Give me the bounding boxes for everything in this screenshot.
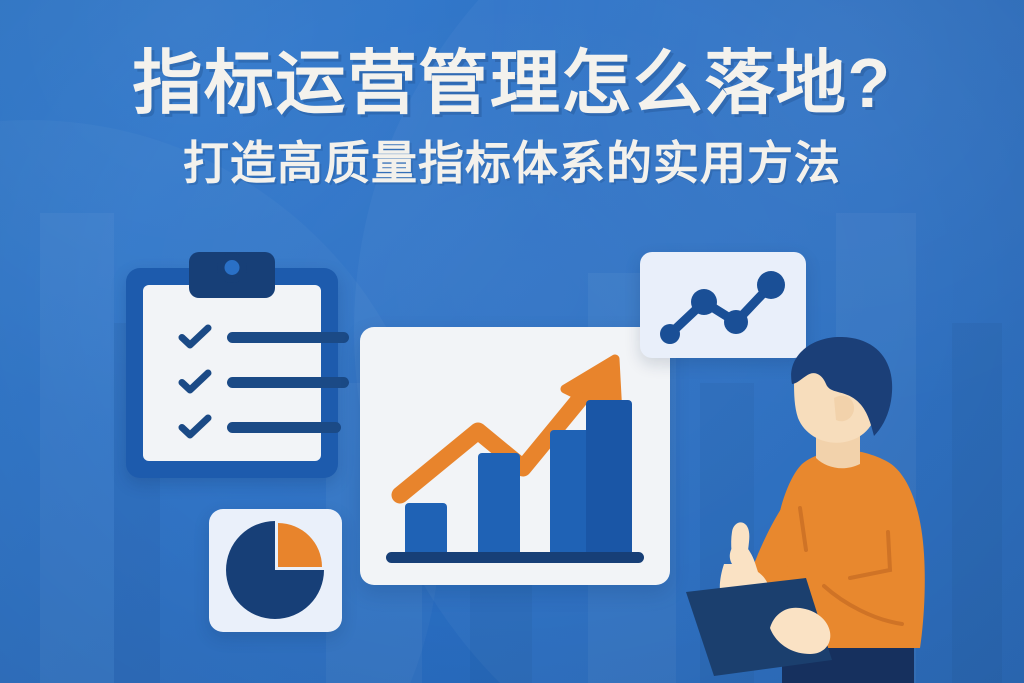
check-icon — [179, 325, 211, 349]
check-icon — [179, 415, 211, 439]
presenter-graphic — [674, 336, 1024, 683]
pie-chart-card — [209, 509, 342, 632]
checklist-line — [227, 422, 341, 433]
line-point — [691, 289, 717, 315]
clipboard-clip-hole — [225, 260, 240, 275]
checklist-line — [227, 377, 349, 388]
page-title: 指标运营管理怎么落地? — [0, 46, 1024, 120]
bar-item — [405, 503, 447, 558]
bar-chart-inner — [360, 327, 670, 585]
title-block: 指标运营管理怎么落地? 打造高质量指标体系的实用方法 — [0, 46, 1024, 189]
bar-item — [478, 453, 520, 558]
poster-canvas: 指标运营管理怎么落地? 打造高质量指标体系的实用方法 — [0, 0, 1024, 683]
checklist-line — [227, 332, 349, 343]
check-icon — [179, 370, 211, 394]
bar-item — [586, 400, 632, 558]
pie-chart-graphic — [209, 509, 342, 632]
presenter-character — [674, 336, 1024, 683]
clipboard-paper — [143, 285, 321, 461]
checklist-clipboard — [126, 268, 338, 478]
bar-chart-card — [360, 327, 670, 585]
line-point — [724, 310, 748, 334]
bar-chart-baseline — [386, 552, 644, 563]
page-subtitle: 打造高质量指标体系的实用方法 — [0, 138, 1024, 189]
line-point — [757, 271, 785, 299]
